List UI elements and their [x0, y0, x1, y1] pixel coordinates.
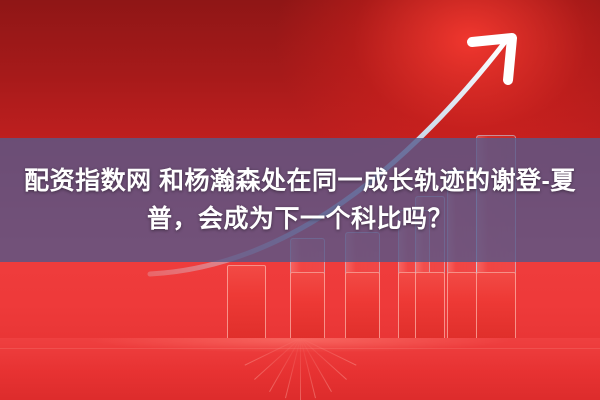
chart-bar	[227, 265, 266, 338]
bar-solid-body	[290, 272, 325, 338]
bar-solid-body	[227, 265, 266, 338]
bar-solid-body	[476, 272, 516, 338]
headline-text: 配资指数网 和杨瀚森处在同一成长轨迹的谢登-夏 普，会成为下一个科比吗？	[0, 138, 600, 262]
headline-line-2: 普，会成为下一个科比吗？	[147, 202, 453, 237]
news-banner: 配资指数网 和杨瀚森处在同一成长轨迹的谢登-夏 普，会成为下一个科比吗？	[0, 0, 600, 400]
bar-solid-body	[415, 272, 445, 338]
headline-line-1: 配资指数网 和杨瀚森处在同一成长轨迹的谢登-夏	[24, 164, 576, 199]
bar-solid-body	[447, 272, 477, 338]
bar-solid-body	[345, 272, 380, 338]
